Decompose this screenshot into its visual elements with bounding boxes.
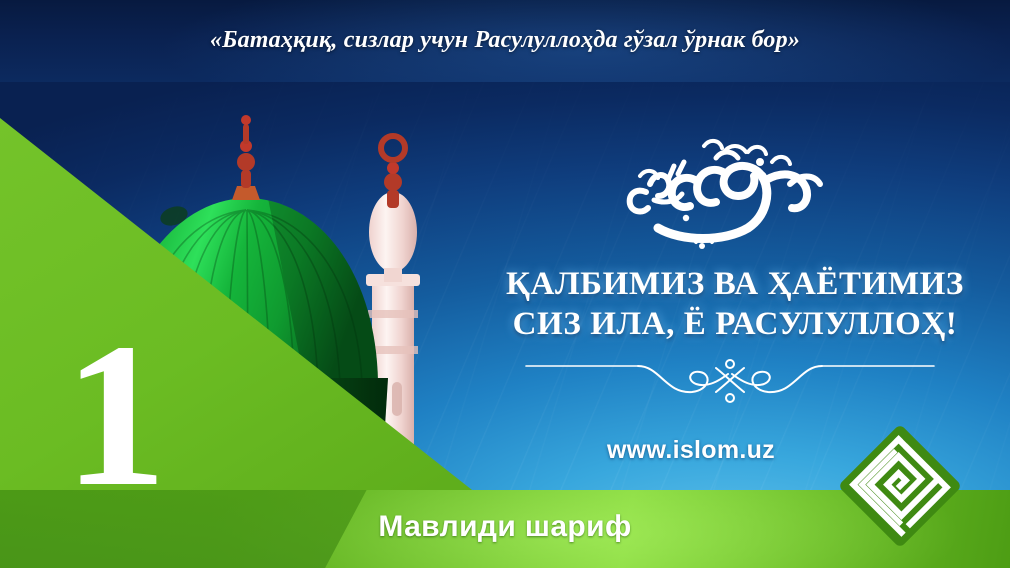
headline: ҚАЛБИМИЗ ВА ҲАЁТИМИЗ СИЗ ИЛА, Ё РАСУЛУЛЛ… <box>470 264 1000 345</box>
top-quote-band: «Батаҳқиқ, сизлар учун Расулуллоҳда гўза… <box>0 0 1010 82</box>
poster-canvas: 1 -БЎЛИМ «Батаҳқиқ, сизлар учун Расулулл… <box>0 0 1010 568</box>
ornamental-divider-icon <box>520 358 940 406</box>
kufic-square-emblem-icon <box>838 424 962 548</box>
headline-line-1: ҚАЛБИМИЗ ВА ҲАЁТИМИЗ <box>470 264 1000 304</box>
headline-line-2: СИЗ ИЛА, Ё РАСУЛУЛЛОҲ! <box>470 304 1000 344</box>
hadith-quote: «Батаҳқиқ, сизлар учун Расулуллоҳда гўза… <box>0 27 1010 54</box>
muhammad-calligraphy-icon <box>620 118 850 258</box>
section-number: 1 <box>64 312 163 518</box>
